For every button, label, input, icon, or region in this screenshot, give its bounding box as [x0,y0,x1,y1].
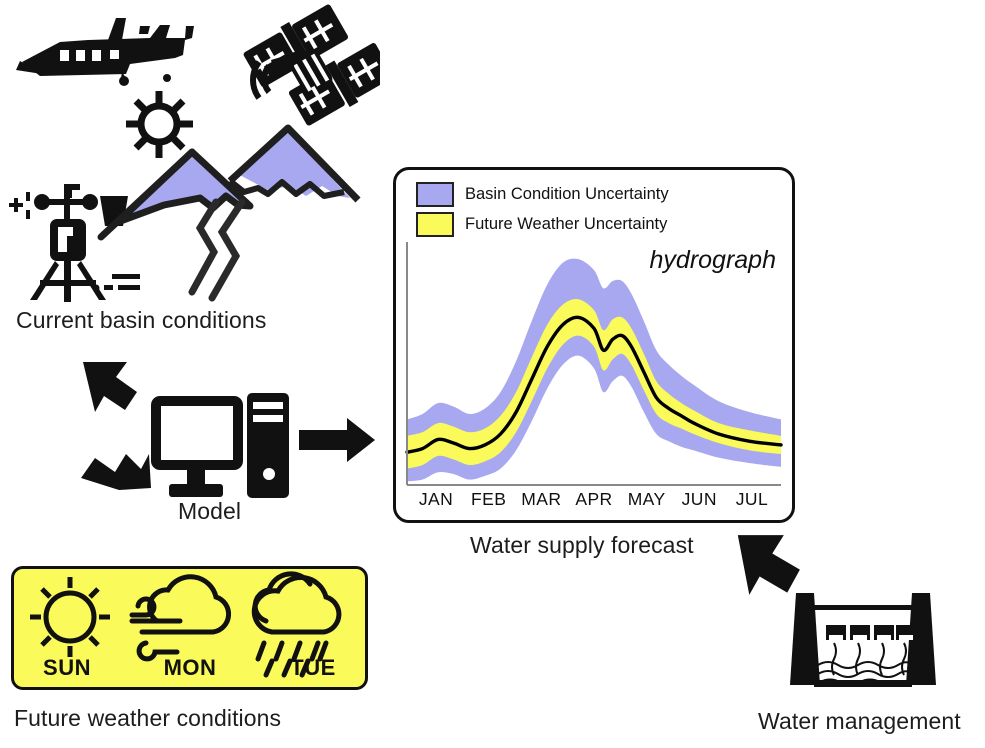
sun-icon [30,577,110,657]
snow-capped-mountains-icon [101,128,358,298]
water-management-label: Water management [758,708,961,735]
weather-day-label-2: TUE [263,655,363,681]
month-tick-jun: JUN [673,489,725,510]
month-tick-may: MAY [621,489,673,510]
month-tick-apr: APR [568,489,620,510]
weather-uncertainty-band [407,299,781,469]
dam-icon [790,593,936,687]
sun-icon [126,91,193,158]
month-tick-jul: JUL [726,489,778,510]
weather-day-label-1: MON [140,655,240,681]
month-tick-feb: FEB [463,489,515,510]
weather-day-label-0: SUN [17,655,117,681]
desktop-monitor-icon [151,396,243,497]
arrow-model-to-forecast [299,418,375,462]
water-supply-forecast-label: Water supply forecast [470,532,694,559]
basin-conditions-label: Current basin conditions [16,307,266,334]
hydrograph-plot [396,170,792,520]
airplane-icon [16,18,194,86]
arrow-forecast-to-dam [738,535,800,595]
arrow-weather-to-model [81,454,151,490]
basin-conditions-graphic [0,0,380,310]
wind-cloud-icon [132,577,229,659]
future-weather-box: SUN MON TUE [11,566,368,690]
computer-tower-icon [247,393,289,498]
month-tick-jan: JAN [410,489,462,510]
water-management-graphic [730,525,945,710]
model-label: Model [178,498,241,525]
month-tick-mar: MAR [515,489,567,510]
weather-station-icon [0,184,140,302]
future-weather-label: Future weather conditions [14,705,281,732]
water-supply-forecast-chart: Basin Condition Uncertainty Future Weath… [393,167,795,523]
satellite-icon [241,0,380,140]
arrow-basin-to-model [83,362,137,412]
month-axis-labels: JAN FEB MAR APR MAY JUN JUL [396,489,792,510]
